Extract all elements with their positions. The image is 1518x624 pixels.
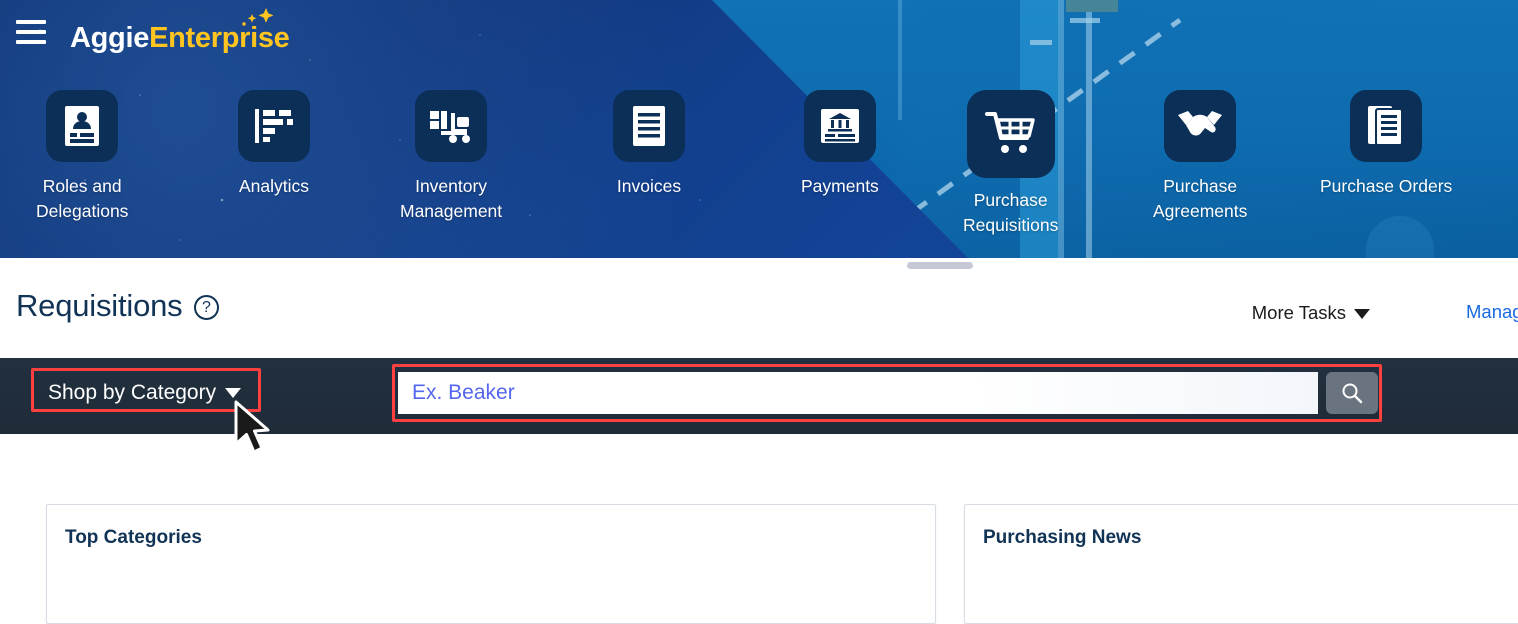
tile-icon-wrap bbox=[804, 90, 876, 162]
card-purchasing-news[interactable]: Purchasing News bbox=[964, 504, 1518, 624]
shopping-cart-icon bbox=[985, 110, 1037, 158]
shop-by-category-label: Shop by Category bbox=[48, 381, 216, 405]
panel-drag-handle[interactable] bbox=[907, 262, 973, 269]
forklift-icon bbox=[429, 107, 473, 145]
tile-icon-wrap bbox=[46, 90, 118, 162]
page-title: Requisitions bbox=[16, 288, 182, 324]
id-badge-icon bbox=[63, 104, 101, 148]
magnifier-icon bbox=[1340, 381, 1364, 405]
manage-link[interactable]: Manag bbox=[1466, 301, 1518, 323]
nav-tile-invoices[interactable]: Invoices bbox=[613, 90, 685, 199]
search-field-group bbox=[398, 368, 1382, 418]
nav-tile-label: Inventory Management bbox=[400, 174, 502, 224]
nav-tile-label: Payments bbox=[801, 174, 879, 199]
tile-icon-wrap bbox=[613, 90, 685, 162]
stacked-documents-icon bbox=[1366, 104, 1406, 148]
document-lines-icon bbox=[631, 104, 667, 148]
shop-by-category-dropdown[interactable]: Shop by Category bbox=[34, 373, 255, 413]
tile-icon-wrap bbox=[415, 90, 487, 162]
question-mark-circle-icon[interactable]: ? bbox=[194, 295, 219, 320]
card-title: Purchasing News bbox=[983, 527, 1141, 549]
tile-icon-wrap bbox=[1350, 90, 1422, 162]
more-tasks-label: More Tasks bbox=[1252, 302, 1346, 323]
sparkle-stars-icon bbox=[236, 6, 284, 36]
nav-tile-label: Purchase Orders bbox=[1320, 174, 1452, 199]
more-tasks-button[interactable]: More Tasks bbox=[1252, 302, 1370, 324]
nav-tile-label: Purchase Agreements bbox=[1153, 174, 1247, 224]
logo-text-aggie: Aggie bbox=[70, 22, 149, 54]
tile-icon-wrap bbox=[238, 90, 310, 162]
mouse-cursor-pointer-icon bbox=[233, 400, 275, 458]
nav-tile-purchase-requisitions[interactable]: Purchase Requisitions bbox=[963, 90, 1058, 238]
handshake-icon bbox=[1177, 109, 1223, 143]
nav-tile-payments[interactable]: Payments bbox=[801, 90, 879, 199]
banner-nav: Roles and Delegations Analytics bbox=[0, 90, 1518, 240]
page-header: Requisitions ? More Tasks Manag bbox=[0, 270, 1518, 358]
card-top-categories[interactable]: Top Categories bbox=[46, 504, 936, 624]
nav-tile-inventory-management[interactable]: Inventory Management bbox=[400, 90, 502, 224]
hamburger-menu-icon[interactable] bbox=[16, 20, 46, 44]
app-banner: AggieEnterprise Roles and Delegations bbox=[0, 0, 1518, 258]
bank-check-icon bbox=[819, 106, 861, 146]
card-title: Top Categories bbox=[65, 527, 202, 549]
tile-icon-wrap bbox=[1164, 90, 1236, 162]
nav-tile-analytics[interactable]: Analytics bbox=[238, 90, 310, 199]
chevron-down-icon bbox=[225, 388, 241, 398]
nav-tile-label: Roles and Delegations bbox=[36, 174, 128, 224]
search-input[interactable] bbox=[398, 372, 1318, 414]
nav-tile-label: Purchase Requisitions bbox=[963, 188, 1058, 238]
nav-tile-purchase-orders[interactable]: Purchase Orders bbox=[1320, 90, 1452, 199]
search-button[interactable] bbox=[1326, 372, 1378, 414]
nav-tile-purchase-agreements[interactable]: Purchase Agreements bbox=[1153, 90, 1247, 224]
tile-icon-wrap bbox=[967, 90, 1055, 178]
bar-chart-icon bbox=[253, 106, 295, 146]
nav-tile-label: Analytics bbox=[239, 174, 309, 199]
nav-tile-label: Invoices bbox=[617, 174, 681, 199]
dashboard-cards: Top Categories Purchasing News bbox=[0, 470, 1518, 586]
chevron-down-icon bbox=[1354, 309, 1370, 319]
nav-tile-roles-and-delegations[interactable]: Roles and Delegations bbox=[36, 90, 128, 224]
